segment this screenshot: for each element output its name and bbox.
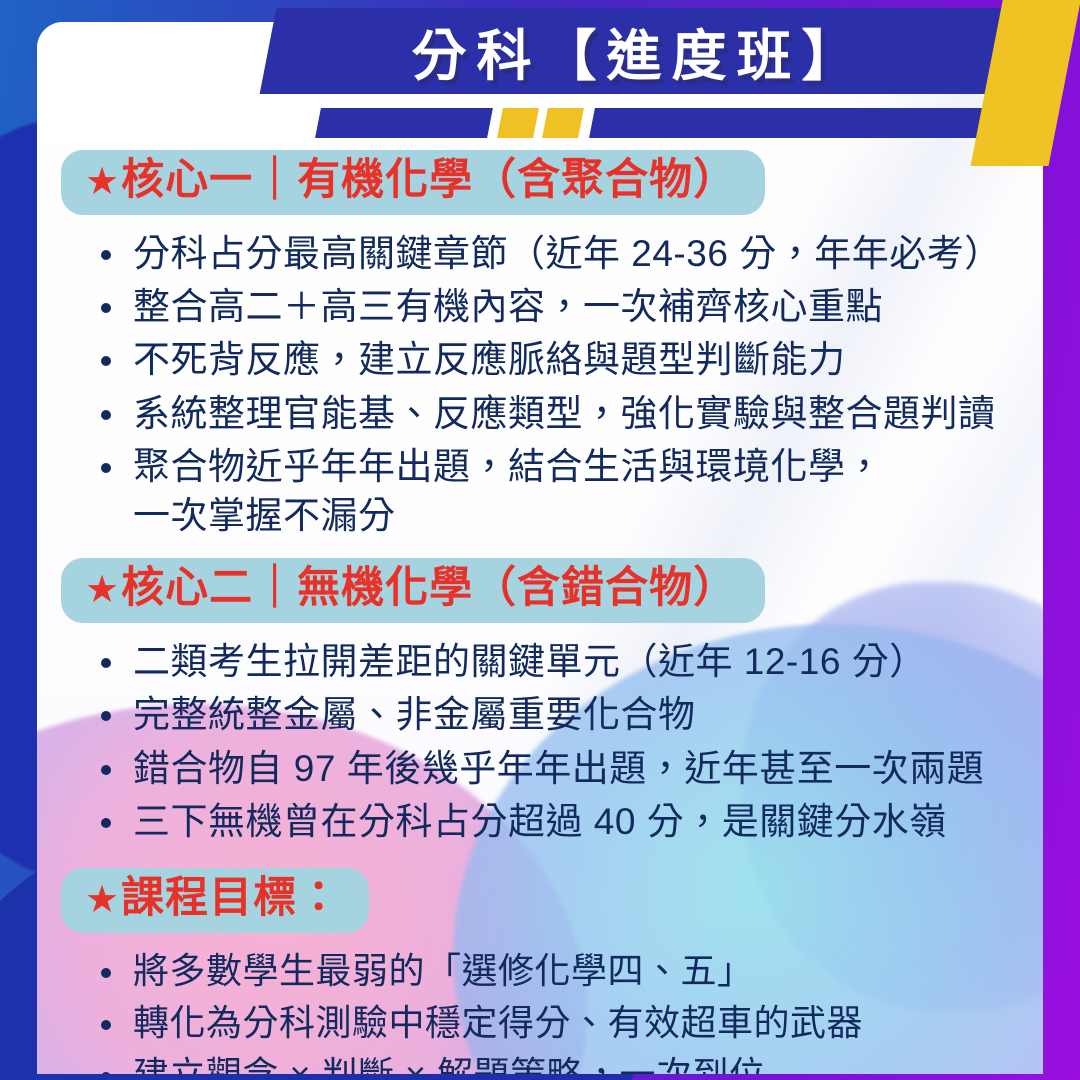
list-item-text: 完整統整金屬、非金屬重要化合物: [127, 690, 1019, 739]
section-header-core-one: ★ 核心一｜有機化學（含聚合物）: [61, 150, 765, 215]
list-item: 不死背反應，建立反應脈絡與題型判斷能力: [97, 335, 1019, 384]
list-item: 轉化為分科測驗中穩定得分、有效超車的武器: [97, 999, 1019, 1047]
bullet-list-course-goals: 將多數學生最弱的「選修化學四、五」 轉化為分科測驗中穩定得分、有效超車的武器 建…: [61, 947, 1019, 1074]
list-item-text: 聚合物近乎年年出題，結合生活與環境化學，: [127, 442, 1019, 491]
list-item-text-wrap: 一次掌握不漏分: [127, 491, 1019, 540]
section-course-goals: ★ 課程目標： 將多數學生最弱的「選修化學四、五」 轉化為分科測驗中穩定得分、有…: [61, 868, 1019, 1074]
list-item: 建立觀念 × 判斷 × 解題策略，一次到位: [97, 1051, 1019, 1074]
section-core-one: ★ 核心一｜有機化學（含聚合物） 分科占分最高關鍵章節（近年 24-36 分，年…: [61, 150, 1019, 540]
list-item: 分科占分最高關鍵章節（近年 24-36 分，年年必考）: [97, 229, 1019, 278]
bullet-list-core-one: 分科占分最高關鍵章節（近年 24-36 分，年年必考） 整合高二＋高三有機內容，…: [61, 229, 1019, 540]
list-item: 系統整理官能基、反應類型，強化實驗與整合題判讀: [97, 389, 1019, 438]
list-item-text: 轉化為分科測驗中穩定得分、有效超車的武器: [127, 999, 1019, 1047]
section-header-label: 課程目標：: [121, 877, 341, 920]
list-item-text: 錯合物自 97 年後幾乎年年出題，近年甚至一次兩題: [127, 744, 1019, 793]
list-item-text: 系統整理官能基、反應類型，強化實驗與整合題判讀: [127, 389, 1019, 438]
section-header-label: 核心二｜無機化學（含錯合物）: [121, 567, 737, 610]
star-icon: ★: [85, 880, 119, 918]
list-item-text: 二類考生拉開差距的關鍵單元（近年 12-16 分）: [127, 637, 1019, 686]
list-item: 二類考生拉開差距的關鍵單元（近年 12-16 分）: [97, 637, 1019, 686]
list-item-text: 不死背反應，建立反應脈絡與題型判斷能力: [127, 335, 1019, 384]
list-item: 聚合物近乎年年出題，結合生活與環境化學， 一次掌握不漏分: [97, 442, 1019, 540]
list-item: 完整統整金屬、非金屬重要化合物: [97, 690, 1019, 739]
star-icon: ★: [85, 570, 119, 608]
list-item-text: 整合高二＋高三有機內容，一次補齊核心重點: [127, 282, 1019, 331]
bullet-list-core-two: 二類考生拉開差距的關鍵單元（近年 12-16 分） 完整統整金屬、非金屬重要化合…: [61, 637, 1019, 846]
section-header-core-two: ★ 核心二｜無機化學（含錯合物）: [61, 558, 765, 623]
list-item-text: 將多數學生最弱的「選修化學四、五」: [127, 947, 1019, 995]
list-item-text: 三下無機曾在分科占分超過 40 分，是關鍵分水嶺: [127, 797, 1019, 846]
list-item-text: 分科占分最高關鍵章節（近年 24-36 分，年年必考）: [127, 229, 1019, 278]
list-item-text: 建立觀念 × 判斷 × 解題策略，一次到位: [127, 1051, 1019, 1074]
section-header-label: 核心一｜有機化學（含聚合物）: [121, 159, 737, 202]
section-core-two: ★ 核心二｜無機化學（含錯合物） 二類考生拉開差距的關鍵單元（近年 12-16 …: [61, 558, 1019, 846]
content-card: ★ 核心一｜有機化學（含聚合物） 分科占分最高關鍵章節（近年 24-36 分，年…: [37, 22, 1043, 1074]
section-header-course-goals: ★ 課程目標：: [61, 868, 369, 933]
list-item: 錯合物自 97 年後幾乎年年出題，近年甚至一次兩題: [97, 744, 1019, 793]
poster-root: ★ 核心一｜有機化學（含聚合物） 分科占分最高關鍵章節（近年 24-36 分，年…: [0, 0, 1080, 1080]
list-item: 整合高二＋高三有機內容，一次補齊核心重點: [97, 282, 1019, 331]
list-item: 將多數學生最弱的「選修化學四、五」: [97, 947, 1019, 995]
poster-content: ★ 核心一｜有機化學（含聚合物） 分科占分最高關鍵章節（近年 24-36 分，年…: [37, 22, 1043, 1074]
list-item: 三下無機曾在分科占分超過 40 分，是關鍵分水嶺: [97, 797, 1019, 846]
star-icon: ★: [85, 162, 119, 200]
